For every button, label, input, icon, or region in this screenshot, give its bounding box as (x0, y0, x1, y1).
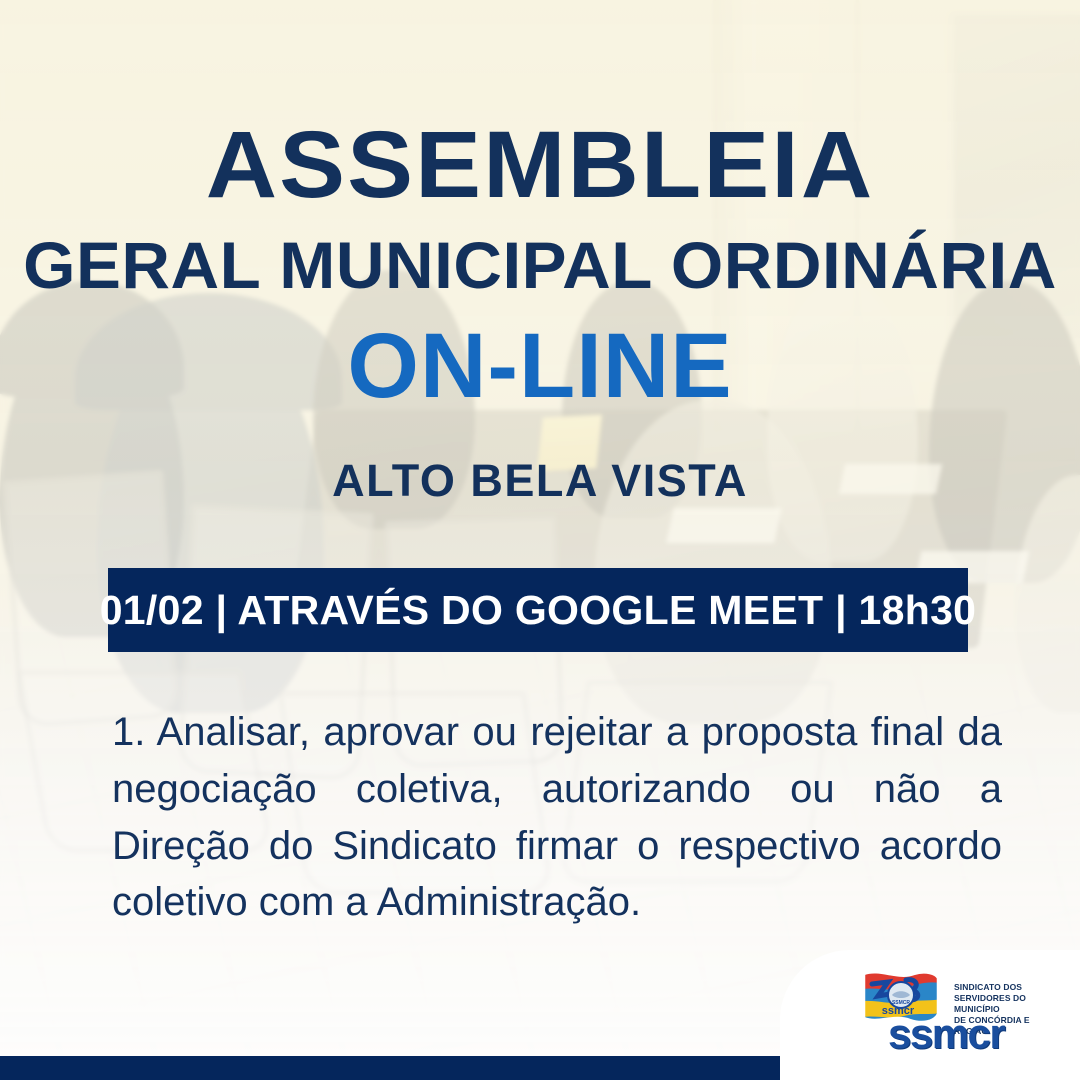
ssmcr-tagline-line-1: SINDICATO DOS (954, 982, 1062, 993)
ssmcr-wordmark: ssmcr (888, 1010, 1004, 1058)
agenda-item-1: 1. Analisar, aprovar ou rejeitar a propo… (112, 704, 1002, 931)
event-info-bar: 01/02 | ATRAVÉS DO GOOGLE MEET | 18h30 (108, 568, 968, 652)
headline-assembleia: ASSEMBLEIA (0, 118, 1080, 213)
ssmcr-logo: SSMCR ssmcr SINDICATO DOS SERVIDORES DO … (850, 966, 1062, 1052)
poster-content: ASSEMBLEIA GERAL MUNICIPAL ORDINÁRIA ON-… (0, 0, 1080, 1080)
headline-online: ON-LINE (0, 320, 1080, 412)
event-info-text: 01/02 | ATRAVÉS DO GOOGLE MEET | 18h30 (100, 587, 977, 634)
headline-location: ALTO BELA VISTA (0, 458, 1080, 503)
footer-navy-bar (0, 1056, 840, 1080)
headline-geral-municipal-ordinaria: GERAL MUNICIPAL ORDINÁRIA (0, 232, 1080, 298)
poster-canvas: ASSEMBLEIA GERAL MUNICIPAL ORDINÁRIA ON-… (0, 0, 1080, 1080)
